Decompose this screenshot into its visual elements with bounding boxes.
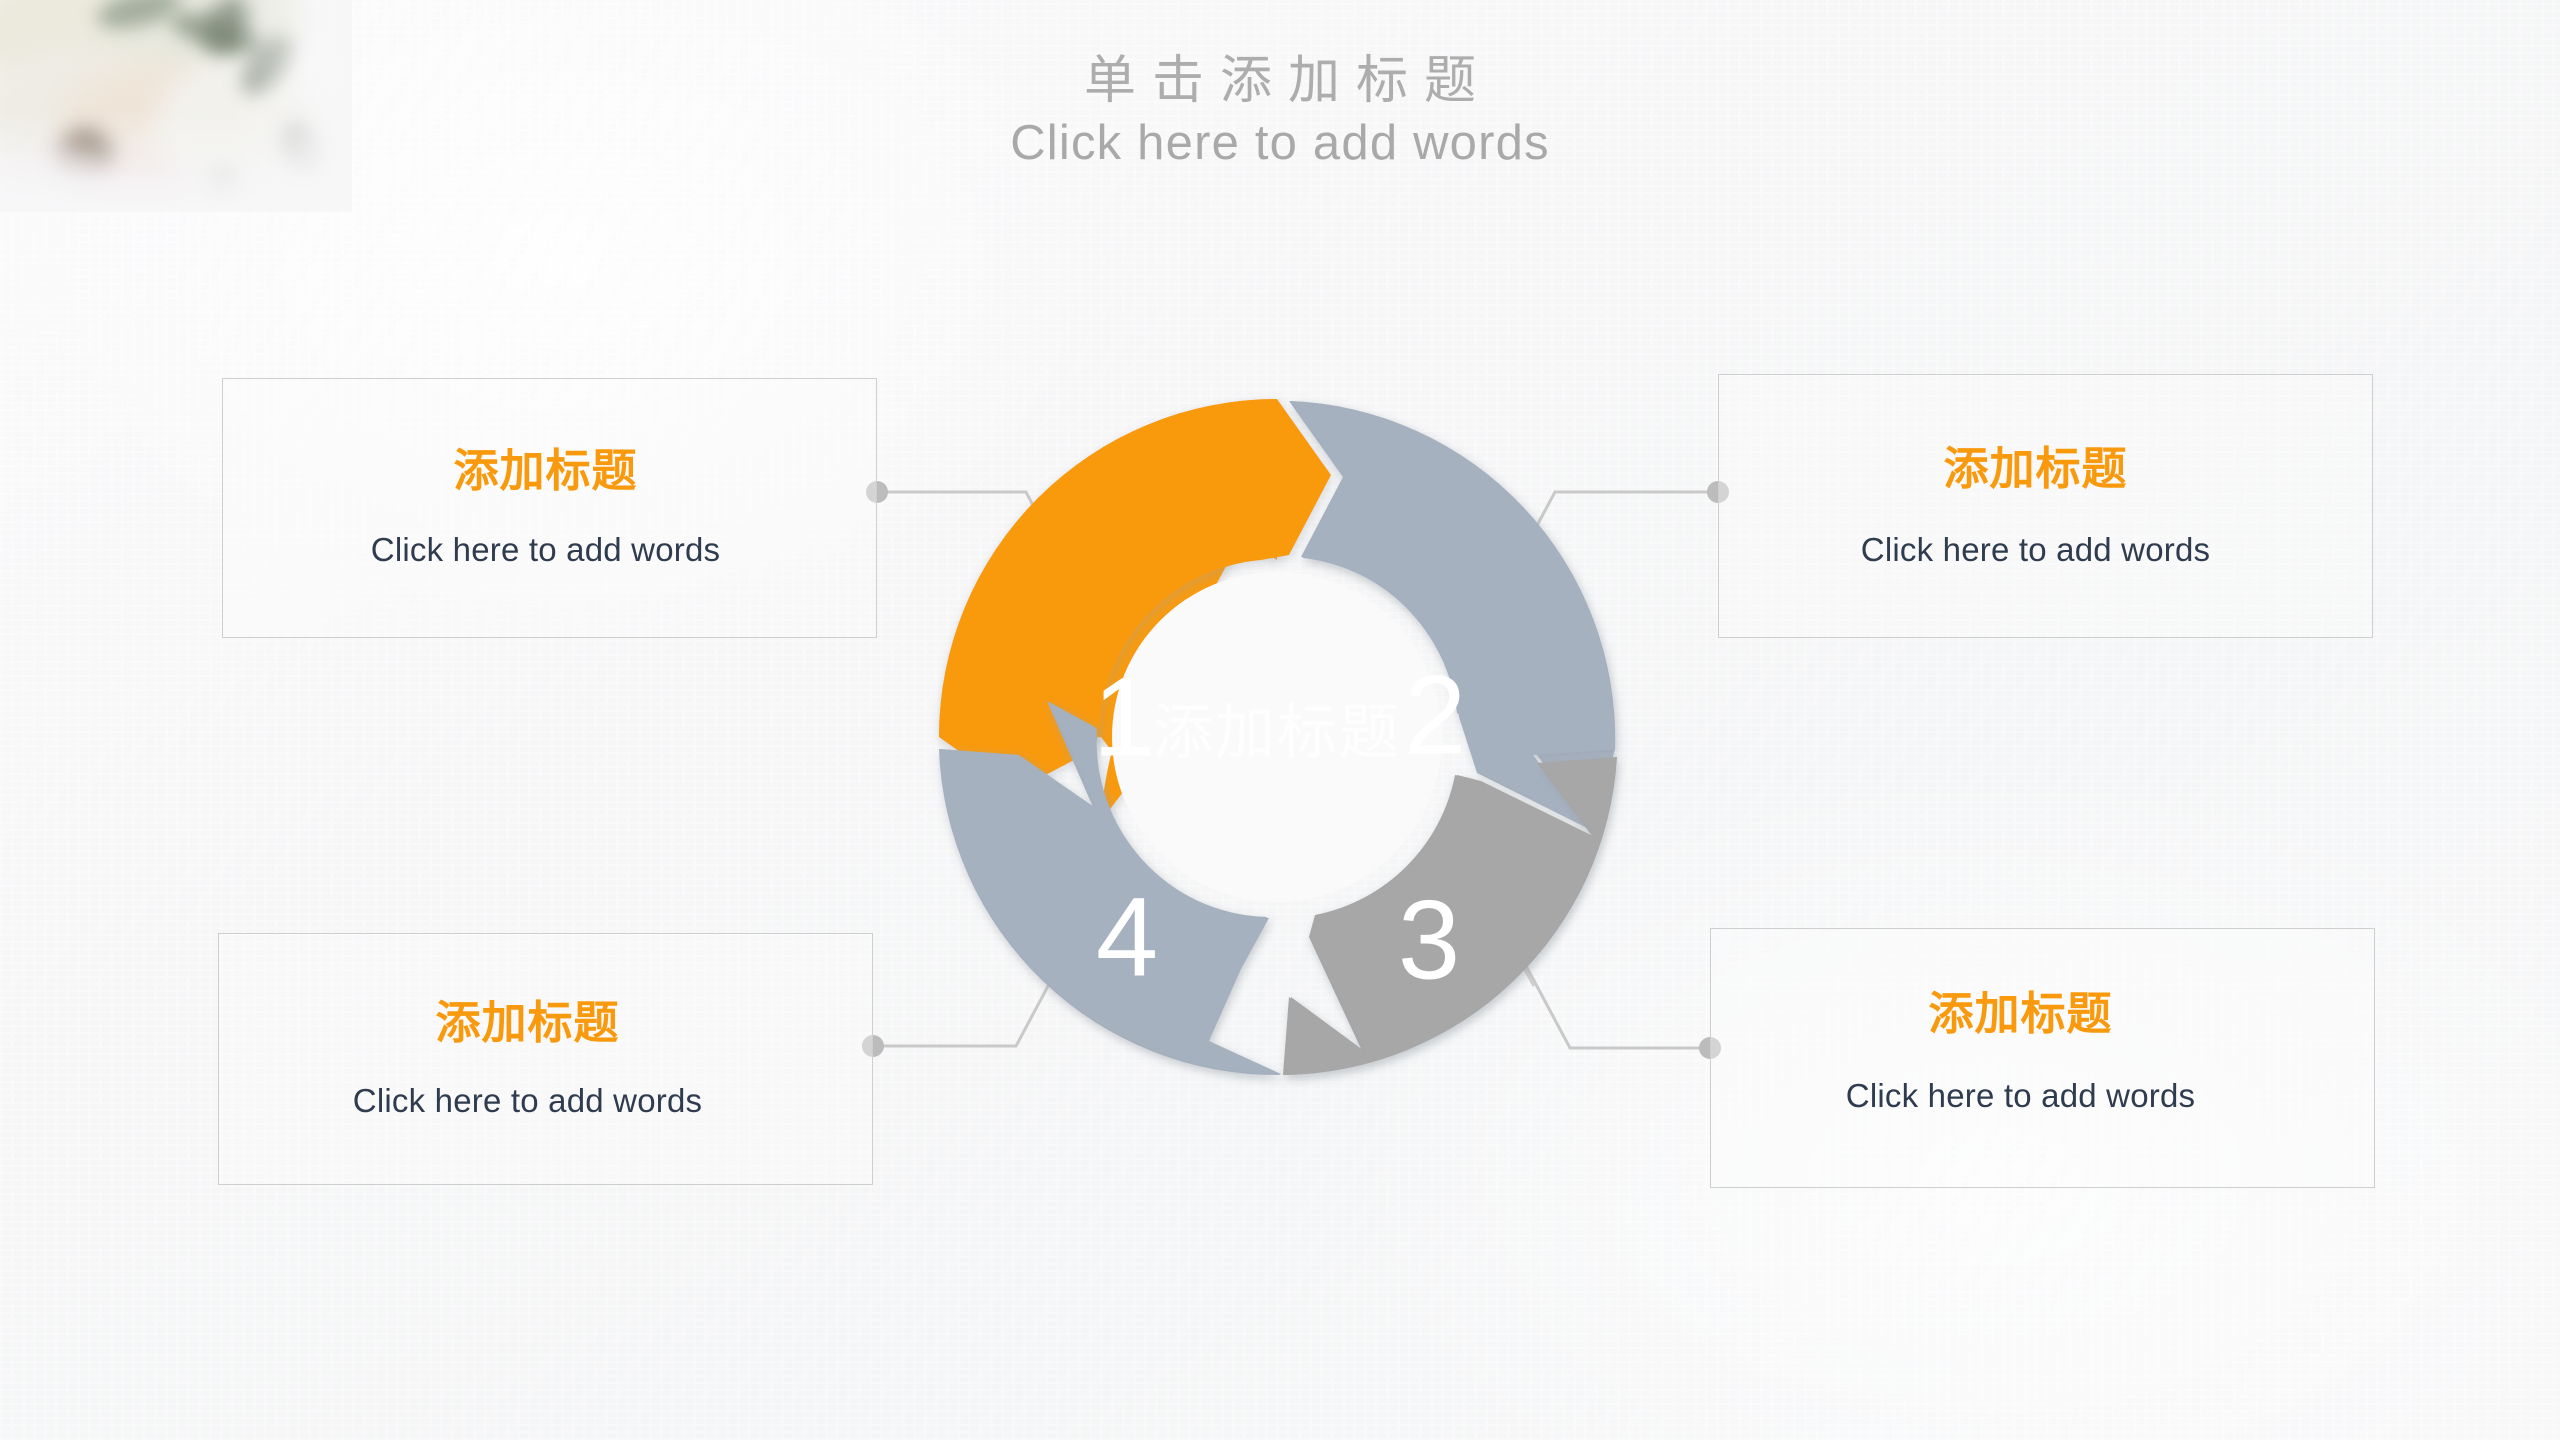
segment-number-1: 1 bbox=[1093, 655, 1155, 780]
segment-number-3: 3 bbox=[1398, 878, 1460, 1003]
info-box-1-title: 添加标题 bbox=[219, 434, 872, 499]
donut-center-hole bbox=[1112, 572, 1442, 902]
info-box-2-body: Click here to add words bbox=[1709, 531, 2362, 569]
page-subtitle-en: Click here to add words bbox=[0, 114, 2560, 173]
segment-number-2: 2 bbox=[1404, 653, 1466, 778]
page-title-cn: 单击添加标题 bbox=[0, 52, 2560, 110]
donut-svg: 1 2 3 4 bbox=[917, 377, 1637, 1097]
slide-header: 单击添加标题 Click here to add words bbox=[0, 52, 2560, 173]
info-box-2-title: 添加标题 bbox=[1709, 432, 2362, 497]
info-box-3[interactable]: 添加标题 Click here to add words bbox=[1710, 928, 2375, 1188]
segment-number-4: 4 bbox=[1096, 875, 1158, 1000]
presentation-slide: 单击添加标题 Click here to add words bbox=[0, 0, 2560, 1440]
info-box-4-title: 添加标题 bbox=[201, 986, 854, 1051]
info-box-3-title: 添加标题 bbox=[1689, 977, 2352, 1042]
info-box-4-body: Click here to add words bbox=[201, 1082, 854, 1120]
info-box-3-body: Click here to add words bbox=[1689, 1077, 2352, 1115]
info-box-1-body: Click here to add words bbox=[219, 531, 872, 569]
info-box-1[interactable]: 添加标题 Click here to add words bbox=[222, 378, 877, 638]
cycle-donut-diagram: 1 2 3 4 添加标题 bbox=[917, 377, 1637, 1097]
info-box-2[interactable]: 添加标题 Click here to add words bbox=[1718, 374, 2373, 638]
info-box-4[interactable]: 添加标题 Click here to add words bbox=[218, 933, 873, 1185]
